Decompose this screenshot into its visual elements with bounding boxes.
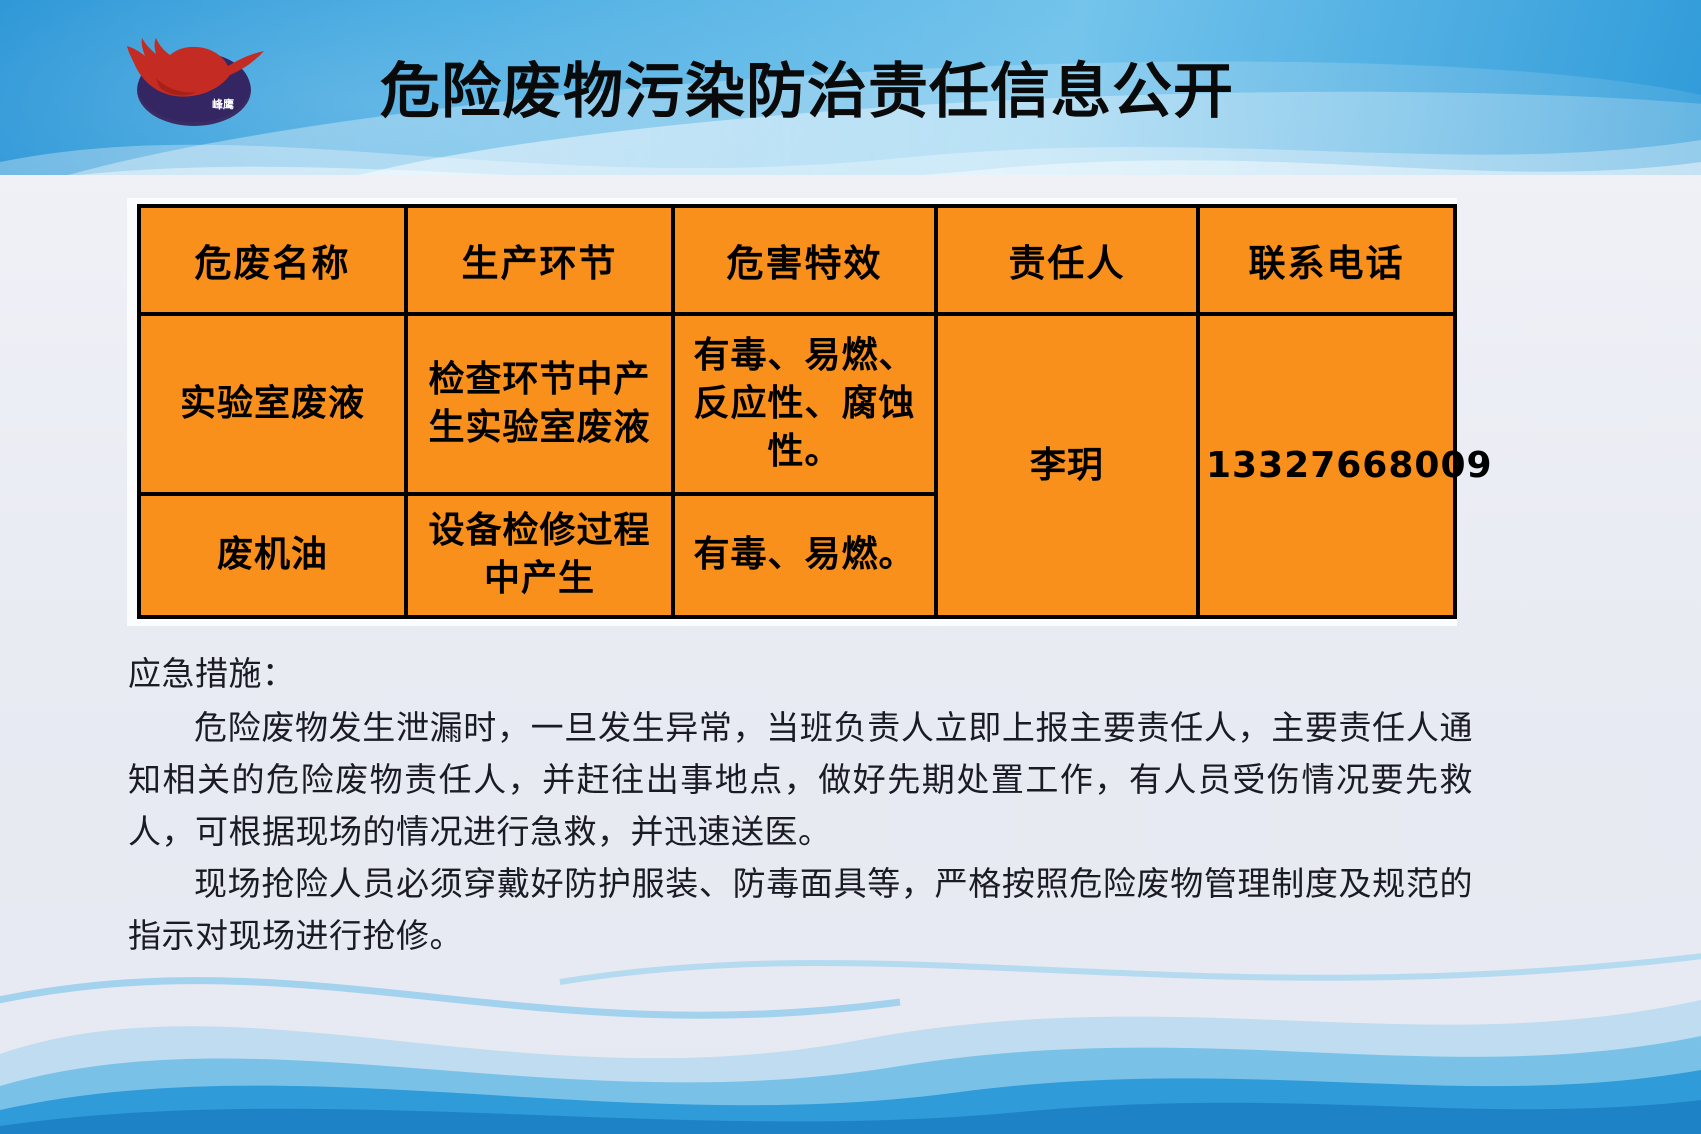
- emergency-paragraph-2: 现场抢险人员必须穿戴好防护服装、防毒面具等，严格按照危险废物管理制度及规范的指示…: [128, 858, 1473, 962]
- cell-responsible-person: 李玥: [936, 314, 1198, 617]
- cell-contact-phone: 13327668009: [1198, 314, 1455, 617]
- cell-stage-2: 设备检修过程中产生: [406, 494, 673, 617]
- slide-canvas: 峰鹰 危险废物污染防治责任信息公开 危废名称 生产环节 危害特效 责任人 联系电…: [0, 0, 1701, 1134]
- column-header-hazard-effect: 危害特效: [673, 206, 936, 314]
- column-header-contact-phone: 联系电话: [1198, 206, 1455, 314]
- cell-waste-name-2: 废机油: [139, 494, 406, 617]
- emergency-paragraph-1: 危险废物发生泄漏时，一旦发生异常，当班负责人立即上报主要责任人，主要责任人通知相…: [128, 702, 1473, 858]
- table-header-row: 危废名称 生产环节 危害特效 责任人 联系电话: [139, 206, 1455, 314]
- cell-hazard-2: 有毒、易燃。: [673, 494, 936, 617]
- column-header-responsible-person: 责任人: [936, 206, 1198, 314]
- emergency-measures-block: 应急措施： 危险废物发生泄漏时，一旦发生异常，当班负责人立即上报主要责任人，主要…: [128, 648, 1473, 962]
- hazardous-waste-table: 危废名称 生产环节 危害特效 责任人 联系电话 实验室废液 检查环节中产生实验室…: [137, 204, 1457, 619]
- column-header-waste-name: 危废名称: [139, 206, 406, 314]
- table-row: 实验室废液 检查环节中产生实验室废液 有毒、易燃、反应性、腐蚀性。 李玥 133…: [139, 314, 1455, 494]
- column-header-production-stage: 生产环节: [406, 206, 673, 314]
- page-title: 危险废物污染防治责任信息公开: [380, 52, 1280, 136]
- eagle-logo: 峰鹰: [112, 18, 282, 138]
- cell-hazard-1: 有毒、易燃、反应性、腐蚀性。: [673, 314, 936, 494]
- svg-text:峰鹰: 峰鹰: [212, 97, 234, 111]
- cell-waste-name-1: 实验室废液: [139, 314, 406, 494]
- emergency-heading: 应急措施：: [128, 648, 1473, 700]
- cell-stage-1: 检查环节中产生实验室废液: [406, 314, 673, 494]
